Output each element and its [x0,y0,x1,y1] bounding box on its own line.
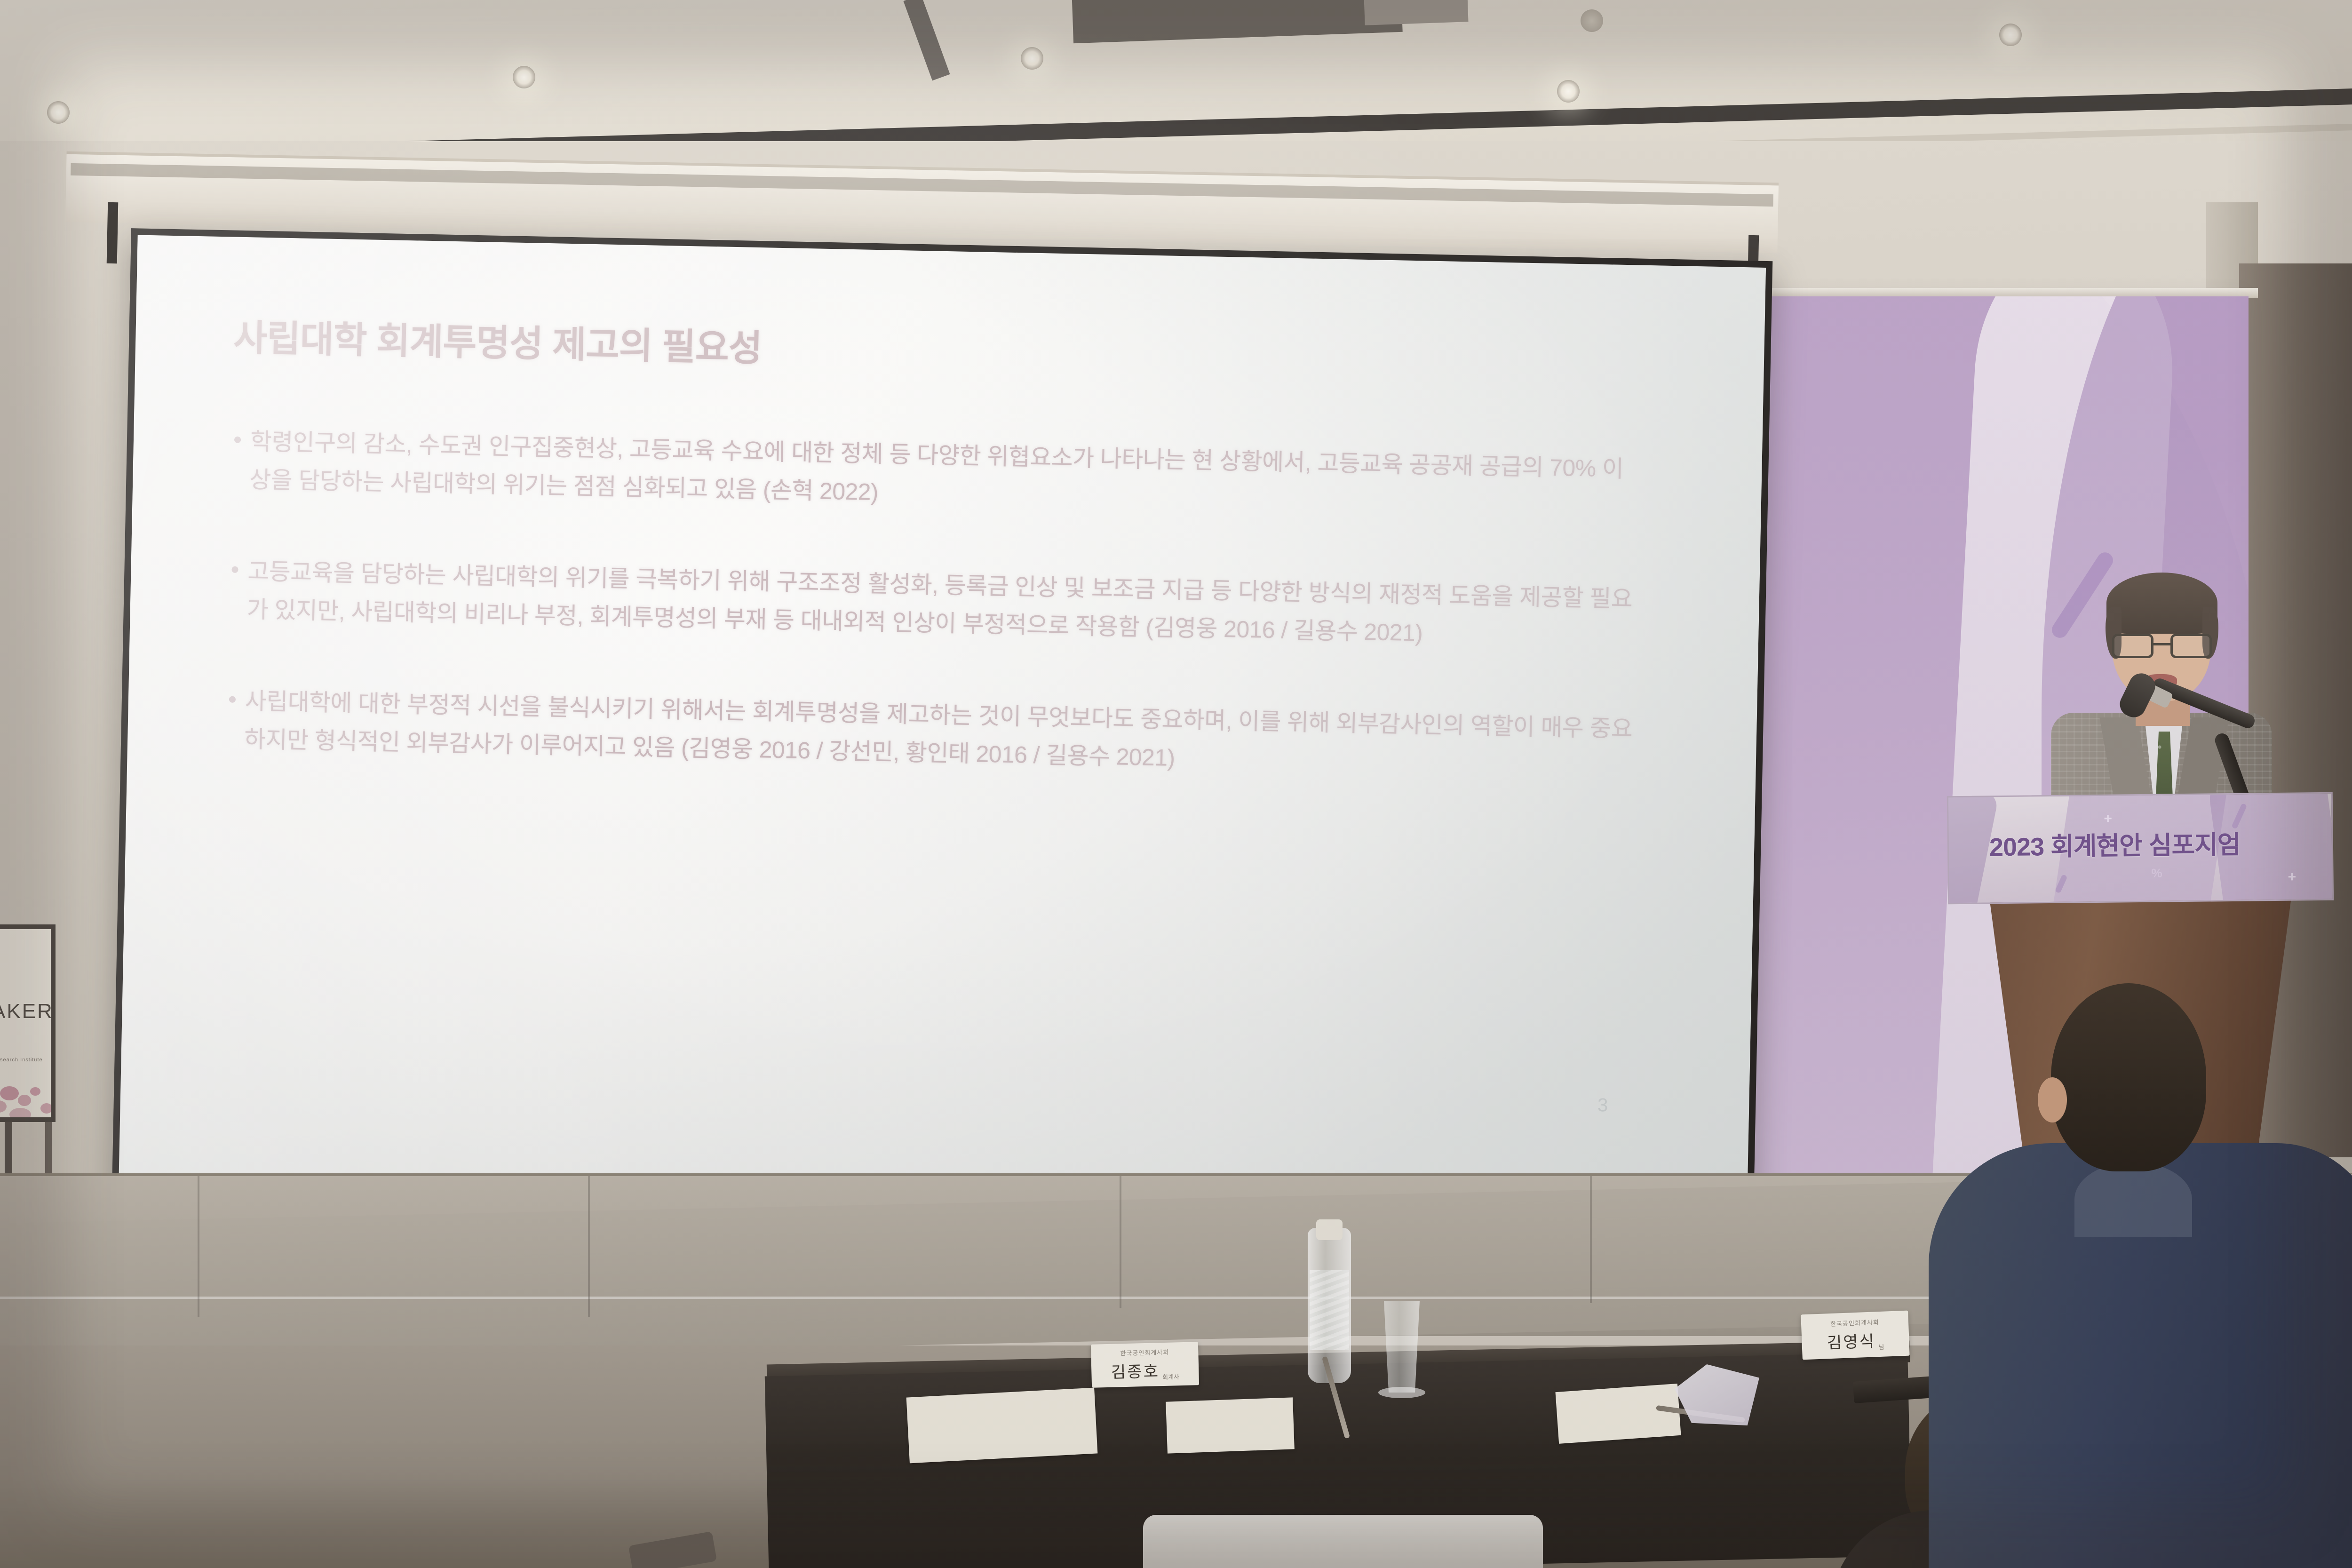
paper-sheet [1555,1384,1681,1444]
bottle-cap [1316,1219,1343,1240]
speaker-hair [2106,573,2217,634]
eyeglasses-icon [2111,634,2213,658]
downlight-icon [1581,9,1603,32]
slide-bullet-list: 학령인구의 감소, 수도권 인구집중현상, 고등교육 수요에 대한 정체 등 다… [225,422,1668,787]
ceiling-vent-icon [1072,0,1402,43]
bullet-dot-icon [230,437,244,499]
podium-sign-plus-icon: + [2288,869,2296,885]
slide-bullet-item: 학령인구의 감소, 수도권 인구집중현상, 고등교육 수요에 대한 정체 등 다… [230,422,1669,527]
audience-member-foreground [1919,983,2352,1568]
poster-floral-art [0,1066,56,1122]
podium-sign-title: 2023 회계현안 심포지엄 [1989,824,2240,864]
poster-subtext: Research Institute [0,1057,43,1063]
audience-ear [2038,1077,2067,1122]
name-placard: 한국공인회계사회 김영식 님 [1801,1311,1910,1360]
conference-hall-scene: 사립대학 회계투명성 제고의 필요성 학령인구의 감소, 수도권 인구집중현상,… [0,0,2352,1568]
bullet-text: 학령인구의 감소, 수도권 인구집중현상, 고등교육 수요에 대한 정체 등 다… [249,422,1643,526]
stage-seam-vertical [588,1176,590,1317]
water-bottle [1308,1228,1351,1383]
ceiling-slot [903,0,950,80]
audience-collar [2074,1162,2192,1237]
bullet-text: 사립대학에 대한 부정적 시선을 불식시키기 위해서는 회계투명성을 제고하는 … [244,682,1637,786]
stage-seam-vertical [1590,1176,1592,1303]
placard-suffix: 님 [1878,1342,1884,1351]
ceiling-vent-secondary [1363,0,1468,25]
slide-title: 사립대학 회계투명성 제고의 필요성 [233,309,1670,390]
bullet-dot-icon [225,696,238,758]
placard-title: 한국공인회계사회 [1120,1347,1169,1358]
paper-sheet [906,1388,1098,1464]
downlight-icon [1999,24,2022,46]
slide-bullet-item: 고등교육을 담당하는 사립대학의 위기를 극복하기 위해 구조조정 활성화, 등… [228,552,1666,657]
name-placard: 한국공인회계사회 김종호 회계사 [1091,1342,1199,1388]
poster-heading: AKER [0,1000,54,1023]
projection-screen: 사립대학 회계투명성 제고의 필요성 학령인구의 감소, 수도권 인구집중현상,… [112,228,1773,1230]
slide-bullet-item: 사립대학에 대한 부정적 시선을 불식시키기 위해서는 회계투명성을 제고하는 … [225,682,1663,787]
podium-signage-panel: + + % 2023 회계현안 심포지엄 [1947,792,2334,905]
bullet-dot-icon [228,566,241,628]
downlight-icon [1557,80,1580,103]
paper-sheet [1166,1397,1295,1453]
downlight-icon [47,101,70,124]
audience-head [2051,983,2206,1171]
drinking-glass-base [1378,1387,1425,1398]
screen-bracket-left [107,202,119,263]
bullet-text: 고등교육을 담당하는 사립대학의 위기를 극복하기 위해 구조조정 활성화, 등… [246,552,1640,656]
stage-seam-vertical [198,1176,199,1317]
stage-seam-vertical [1120,1176,1121,1308]
presentation-slide: 사립대학 회계투명성 제고의 필요성 학령인구의 감소, 수도권 인구집중현상,… [119,235,1766,1218]
podium-sign-percent-icon: % [2151,866,2162,881]
audience-chair [1143,1515,1543,1568]
framed-poster: AKER Research Institute [0,924,56,1122]
slide-page-number: 3 [1597,1095,1608,1116]
placard-suffix: 회계사 [1162,1372,1179,1381]
downlight-icon [513,66,535,88]
downlight-icon [1021,47,1043,70]
placard-name: 김종호 [1111,1358,1160,1382]
placard-name: 김영식 [1827,1328,1876,1353]
